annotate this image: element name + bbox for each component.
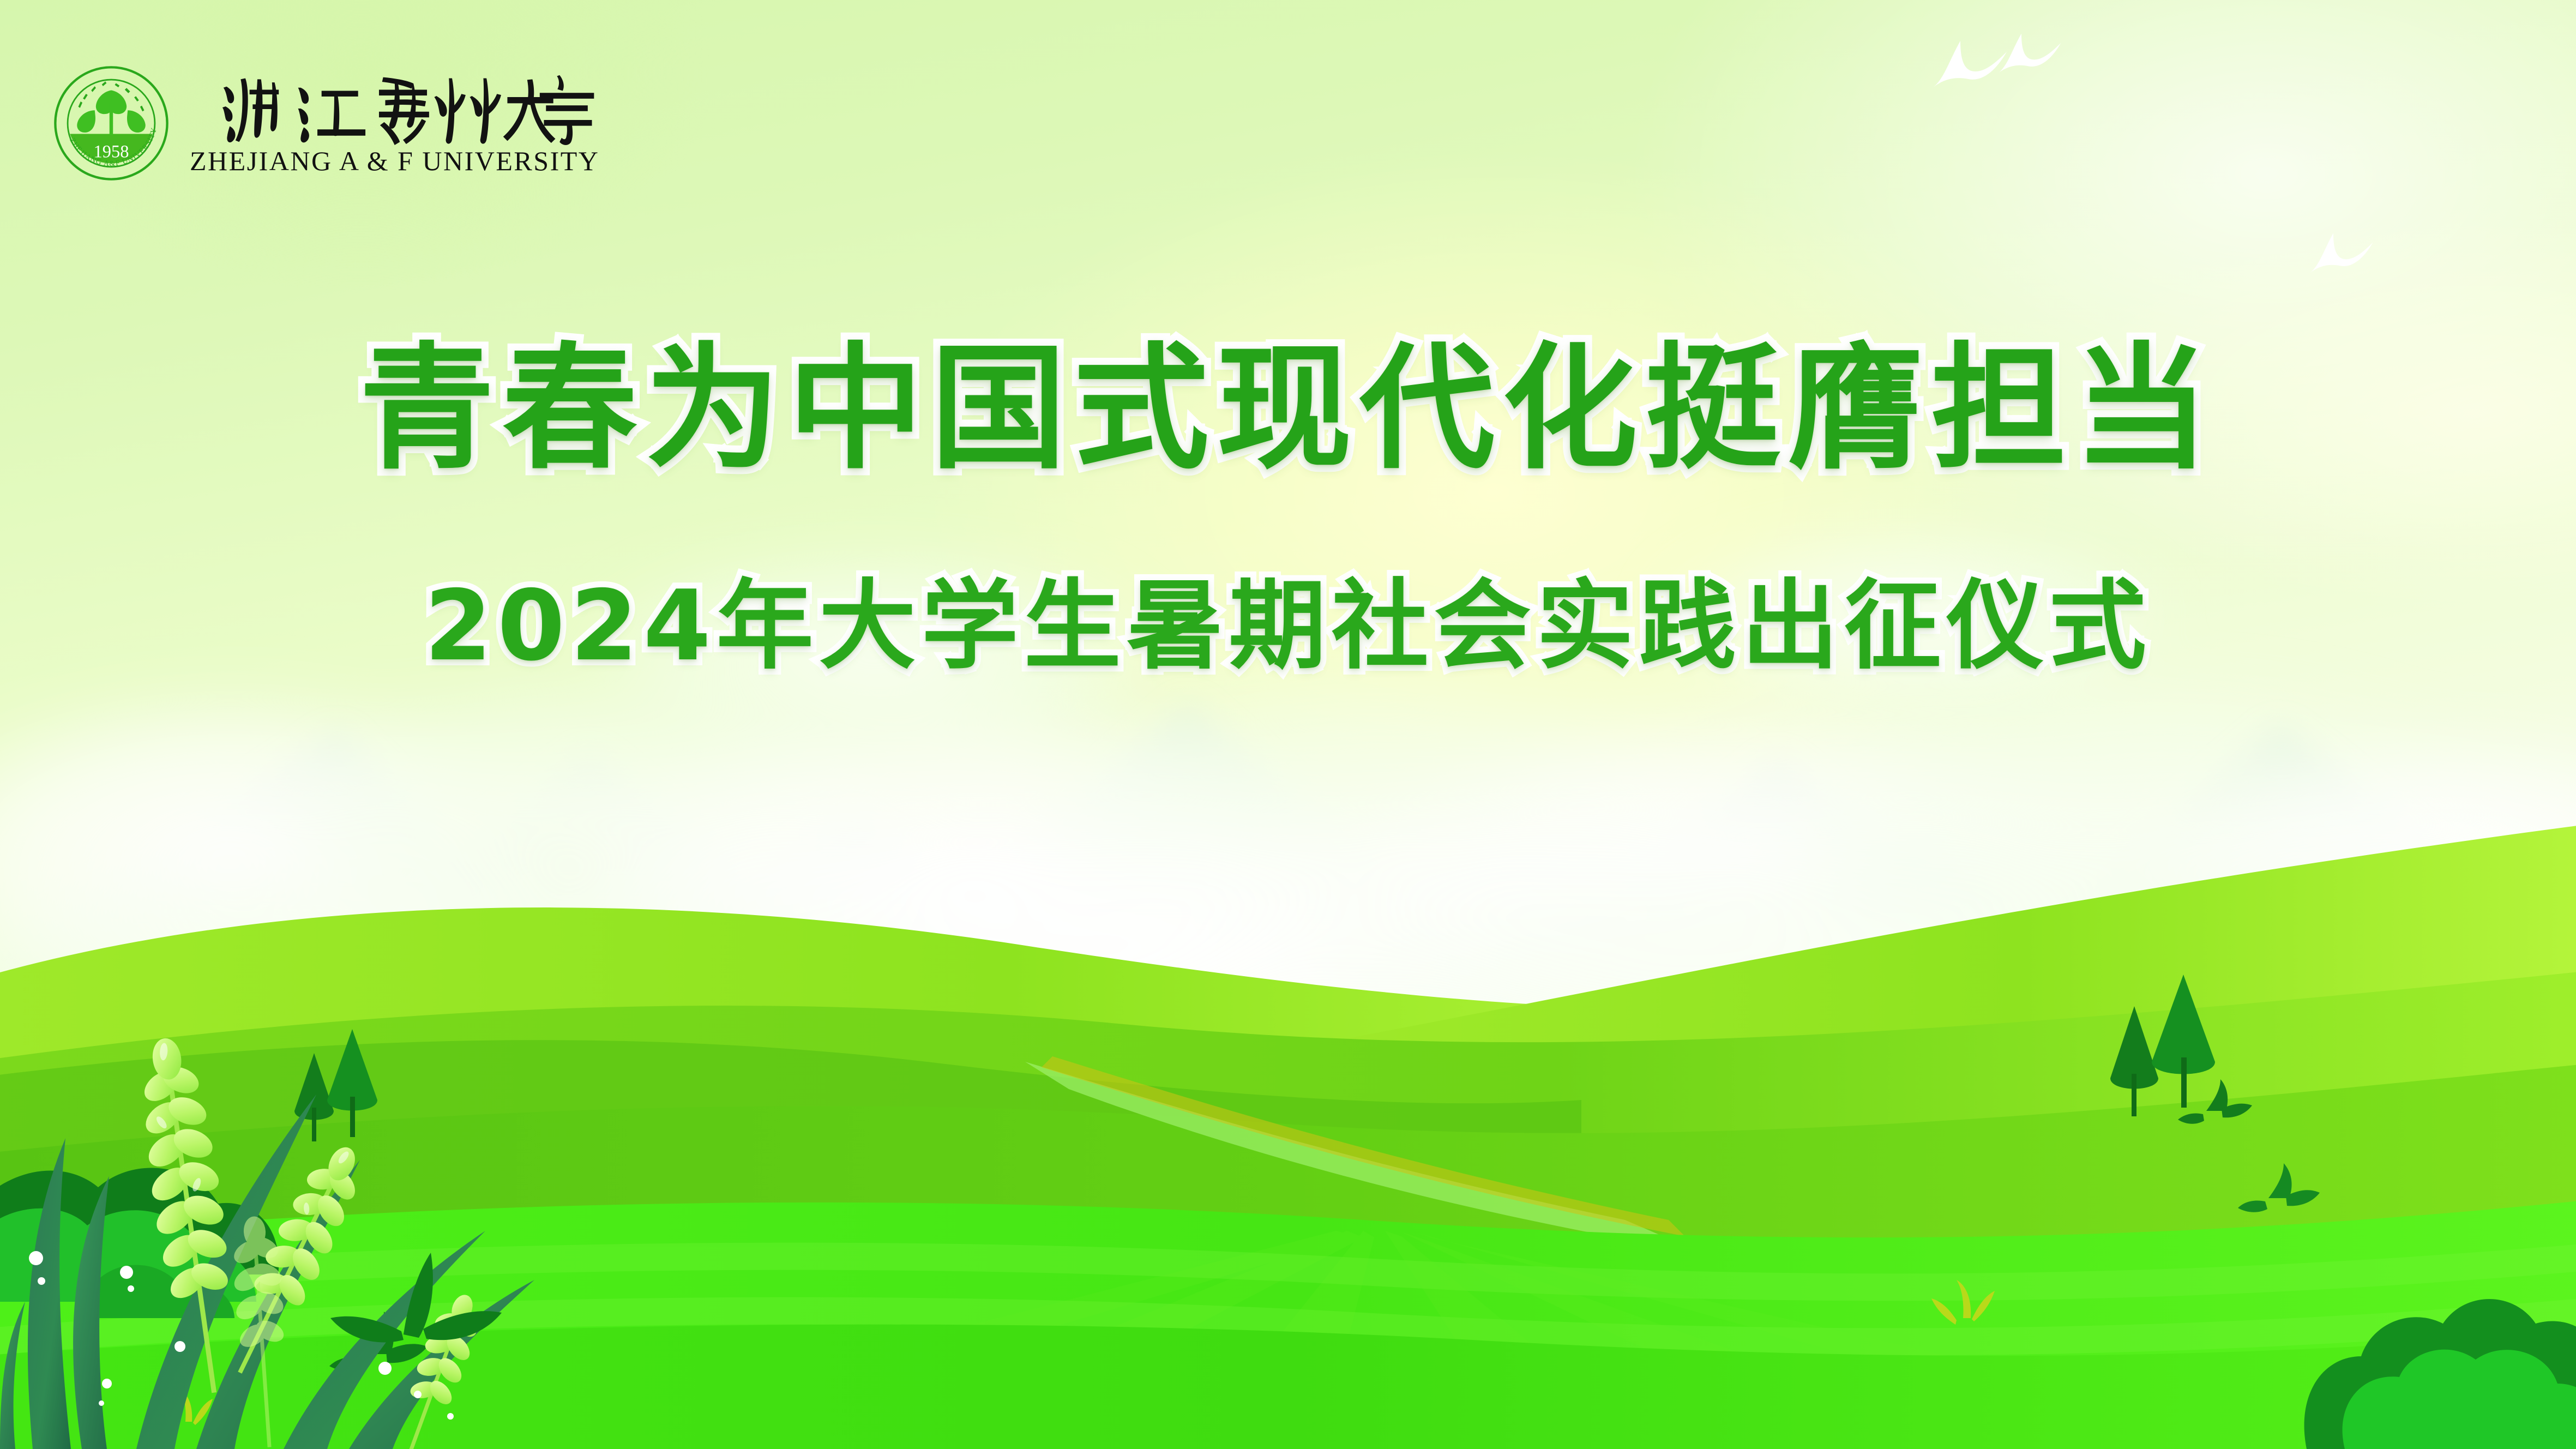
bird-icon-3 [2308,226,2378,282]
university-name-cn-calligraphy [190,72,599,145]
bottom-leaf-sprig-icon [327,1231,507,1351]
university-name-en: ZHEJIANG A & F UNIVERSITY [190,147,599,175]
logo-wordmark: ZHEJIANG A & F UNIVERSITY [190,72,599,175]
bird-icon-2 [1996,26,2066,83]
university-logo: 1958 ZHEJIANG A&F UNIVERSITY [52,64,599,182]
foreground-wheat-plants [0,904,627,1449]
banner-canvas: 1958 ZHEJIANG A&F UNIVERSITY [0,0,2576,1449]
university-seal-icon: 1958 ZHEJIANG A&F UNIVERSITY [52,64,170,182]
